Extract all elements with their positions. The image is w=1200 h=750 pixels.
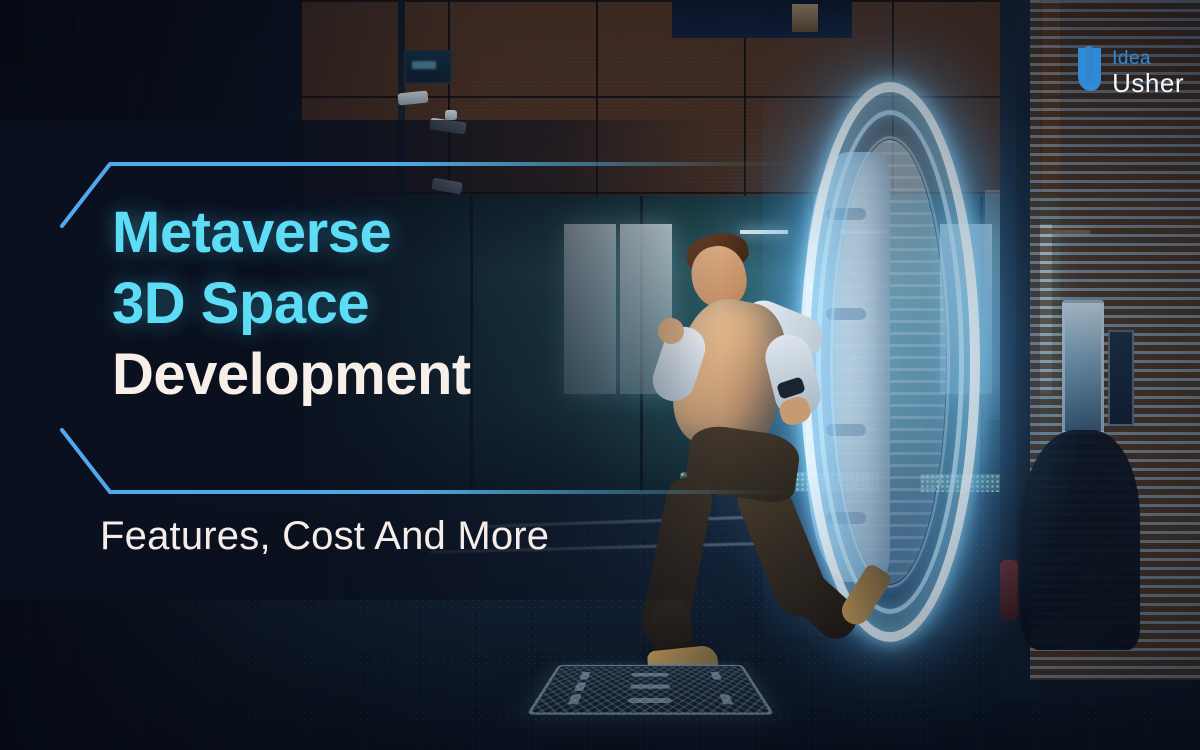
logo-wordmark: Idea Usher — [1112, 49, 1184, 96]
hero-banner: Metaverse 3D Space Development Features,… — [0, 0, 1200, 750]
headline-line-2: 3D Space — [112, 269, 732, 340]
page-subtitle: Features, Cost And More — [100, 514, 549, 559]
headline-line-3: Development — [112, 340, 732, 411]
u-mark-icon — [1072, 44, 1106, 101]
logo-line-usher: Usher — [1112, 70, 1184, 96]
logo-line-idea: Idea — [1112, 49, 1184, 68]
brand-logo[interactable]: Idea Usher — [1072, 44, 1184, 101]
page-title: Metaverse 3D Space Development — [112, 198, 732, 410]
headline-line-1: Metaverse — [112, 198, 732, 269]
banner-content: Metaverse 3D Space Development Features,… — [0, 0, 1200, 750]
